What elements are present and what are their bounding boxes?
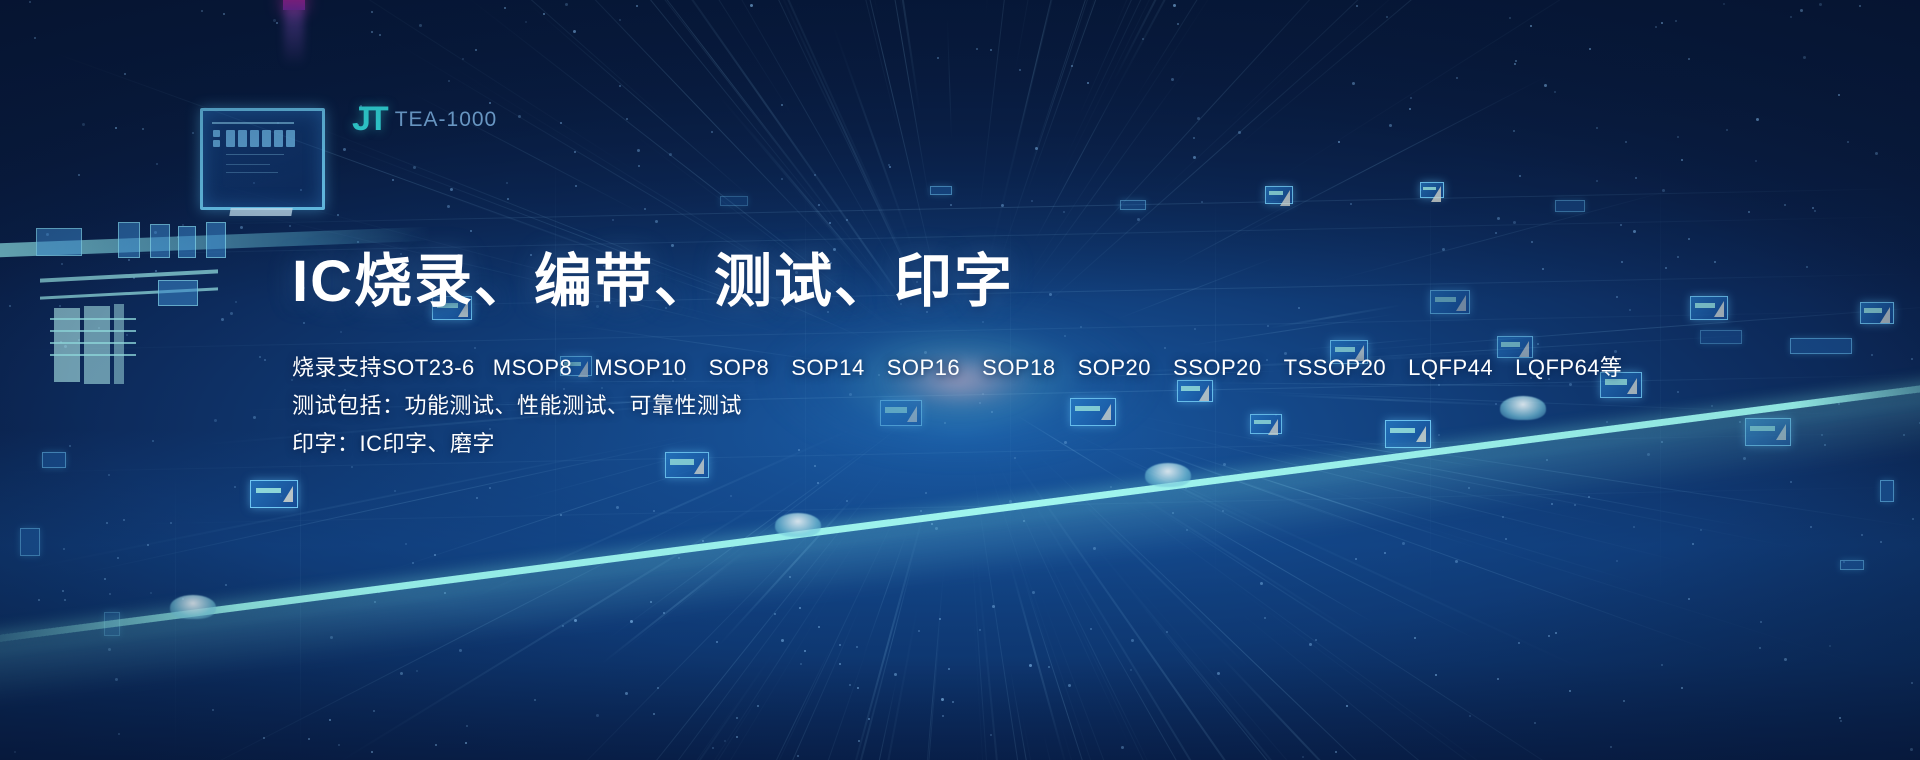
background-vignette [0, 0, 1920, 760]
ic-service-banner: JT TEA-1000 IC烧录、编带、测试、印字 烧录支持SOT23-6 MS… [0, 0, 1920, 760]
